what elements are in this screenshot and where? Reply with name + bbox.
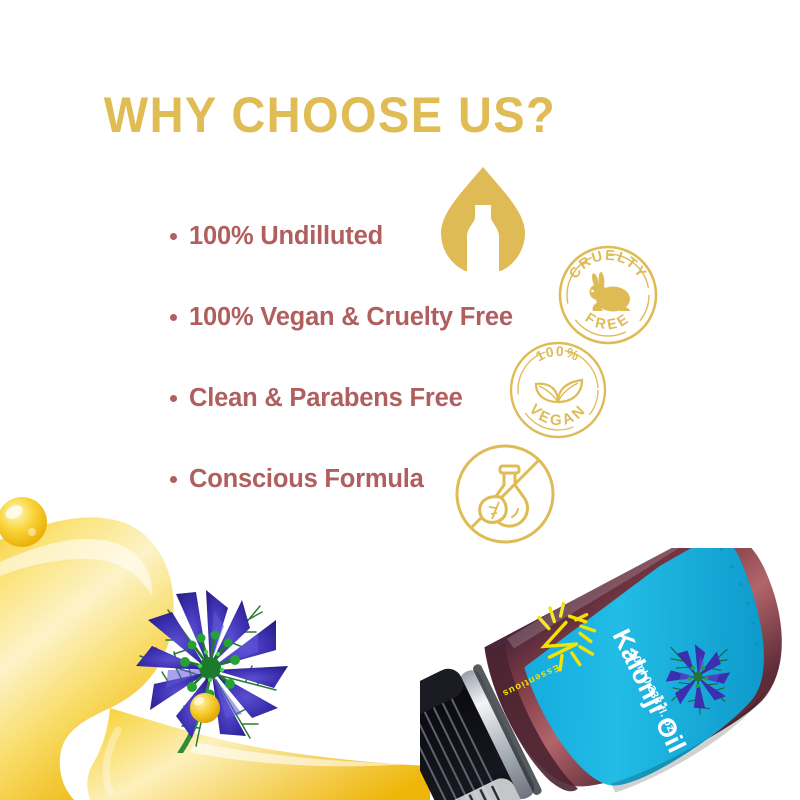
svg-text:CRUELTY: CRUELTY	[566, 248, 650, 282]
bullet-dot-icon	[170, 314, 177, 321]
leaf-icon	[480, 497, 507, 523]
badge-bottom-text: VEGAN	[526, 401, 591, 429]
badge-top-text: CRUELTY	[566, 248, 650, 282]
svg-text:VEGAN: VEGAN	[526, 401, 591, 429]
benefit-label: 100% Undilluted	[189, 222, 383, 251]
benefit-label: Clean & Parabens Free	[189, 384, 463, 413]
badge-bottom-text: FREE	[582, 310, 634, 334]
bullet-dot-icon	[170, 233, 177, 240]
benefit-label: 100% Vegan & Cruelty Free	[189, 303, 513, 332]
page-title: WHY CHOOSE US?	[20, 86, 640, 144]
rabbit-icon	[590, 272, 631, 312]
vegan-badge-icon: 100% VEGAN	[506, 338, 610, 442]
oil-droplet-icon	[190, 693, 220, 723]
cruelty-free-badge-icon: CRUELTY FREE	[556, 243, 660, 347]
nigella-flower-artwork	[110, 548, 310, 753]
bullet-dot-icon	[170, 395, 177, 402]
promo-image-canvas: WHY CHOOSE US? 100% Undilluted 100% Vega…	[0, 0, 800, 800]
svg-text:FREE: FREE	[582, 310, 634, 334]
bottle-drop-icon	[429, 163, 537, 271]
leaves-icon	[536, 380, 582, 402]
no-chemicals-icon	[452, 441, 558, 547]
product-bottle-artwork: Essentious Kalonji Oil 10ml 0.338 fl. oz	[420, 548, 800, 800]
